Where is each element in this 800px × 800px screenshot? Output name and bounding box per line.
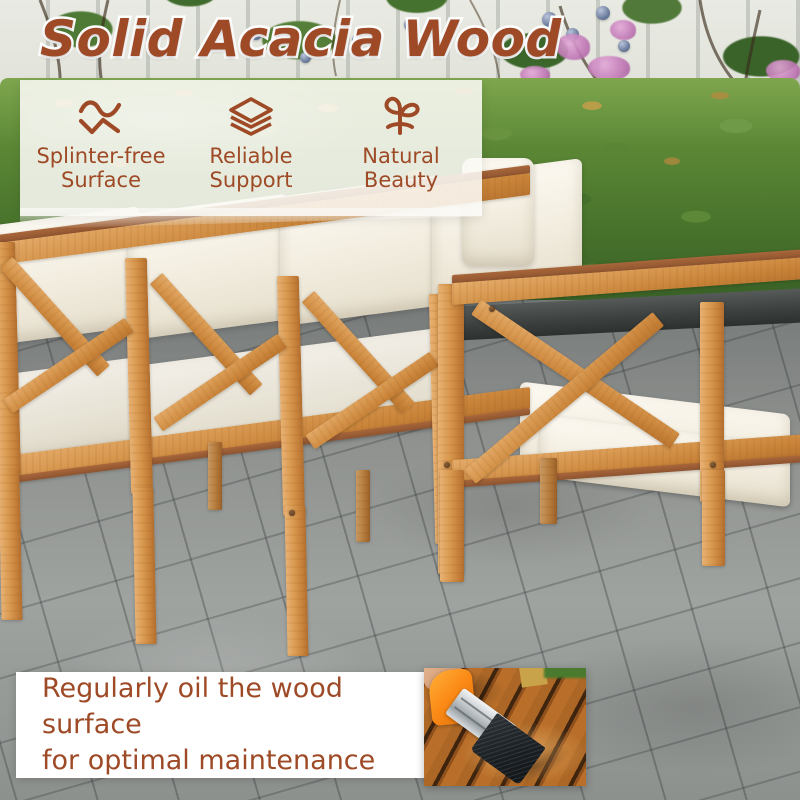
screw [710,462,716,468]
screw [444,462,450,468]
page-title: Solid Acacia Wood [40,10,562,68]
feature-label-line1: Reliable [209,144,292,168]
feature-label: Natural Beauty [362,144,439,193]
feature-label-line1: Natural [362,144,439,168]
sprout-plant-icon [378,92,424,140]
background-grass [544,668,586,678]
leg [702,470,725,566]
blossom [588,56,630,80]
screw [489,306,495,312]
brush-inset-photo [424,668,586,786]
feature-label-line2: Surface [61,168,141,192]
feature-label-line2: Beauty [364,168,438,192]
leg [0,470,23,620]
acacia-wood-sofa [0,170,800,640]
feature-label: Splinter-free Surface [36,144,165,193]
leg-rear [356,470,370,542]
leg-rear [540,458,557,524]
leg [284,506,308,656]
feature-label-line1: Splinter-free [36,144,165,168]
feature-reliable-support: Reliable Support [176,92,326,193]
feature-list: Splinter-free Surface Reliable Support [20,80,482,216]
feature-label: Reliable Support [209,144,292,193]
feature-splinter-free-surface: Splinter-free Surface [26,92,176,193]
feature-panel: Splinter-free Surface Reliable Support [20,80,482,216]
wave-zigzag-icon [76,92,126,140]
leg [440,470,464,582]
feature-label-line2: Support [209,168,292,192]
leg [132,488,156,644]
caption-line1: Regularly oil the wood surface [42,673,343,740]
screw [289,510,295,516]
caption-line2: for optimal maintenance [42,745,375,776]
leg-rear [208,442,222,510]
berry [618,40,630,52]
maintenance-caption-box: Regularly oil the wood surface for optim… [16,672,446,778]
maintenance-caption-text: Regularly oil the wood surface for optim… [42,671,420,780]
blossom [610,20,636,40]
product-marketing-image: Solid Acacia Wood Splinter-free Surface [0,0,800,800]
berry [596,6,610,20]
stacked-layers-icon [226,92,276,140]
feature-natural-beauty: Natural Beauty [326,92,476,193]
